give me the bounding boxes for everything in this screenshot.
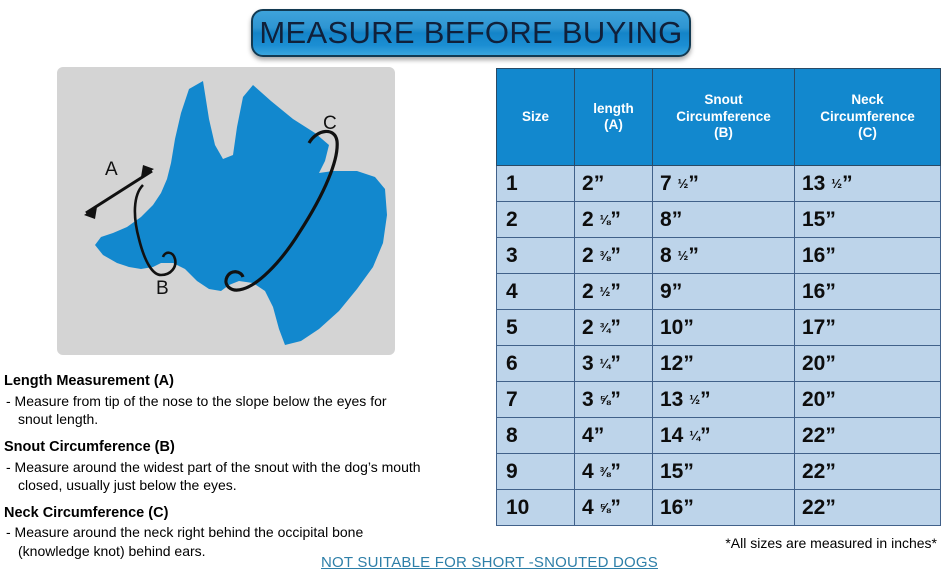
cell-snout-circumference: 7 ½” — [653, 166, 795, 202]
header-line-1: Size — [500, 109, 571, 125]
inches-note: *All sizes are measured in inches* — [725, 535, 937, 551]
header-line-3: (B) — [656, 125, 791, 141]
value-unit: ” — [610, 244, 621, 267]
cell-size: 7 — [497, 382, 575, 418]
cell-snout-circumference: 9” — [653, 274, 795, 310]
value-whole: 4 — [582, 460, 594, 483]
value-whole: 13 — [660, 388, 683, 411]
cell-size: 10 — [497, 490, 575, 526]
value-unit: ” — [825, 424, 836, 447]
value-unit: ” — [825, 352, 836, 375]
cell-neck-circumference: 13 ½” — [795, 166, 941, 202]
cell-length: 3 ¼” — [575, 346, 653, 382]
cell-neck-circumference: 16” — [795, 238, 941, 274]
value-unit: ” — [610, 460, 621, 483]
value-unit: ” — [610, 316, 621, 339]
instruction-body: - Measure around the widest part of the … — [4, 458, 490, 495]
value-unit: ” — [700, 388, 711, 411]
table-row: 104 ⅝”16”22” — [497, 490, 941, 526]
cell-length: 3 ⅝” — [575, 382, 653, 418]
value-whole: 3 — [582, 352, 594, 375]
value-whole: 20 — [802, 352, 825, 375]
table-row: 12”7 ½”13 ½” — [497, 166, 941, 202]
header-line-1: Neck — [798, 92, 937, 108]
table-row: 63 ¼”12”20” — [497, 346, 941, 382]
cell-size: 8 — [497, 418, 575, 454]
cell-length: 2 ¾” — [575, 310, 653, 346]
cell-neck-circumference: 20” — [795, 346, 941, 382]
value-whole: 2 — [582, 316, 594, 339]
table-row: 32 ⅜”8 ½”16” — [497, 238, 941, 274]
value-whole: 2 — [582, 280, 594, 303]
value-whole: 9 — [660, 280, 672, 303]
table-row: 22 ⅛”8”15” — [497, 202, 941, 238]
value-whole: 15 — [660, 460, 683, 483]
cell-snout-circumference: 16” — [653, 490, 795, 526]
cell-size: 6 — [497, 346, 575, 382]
cell-size: 1 — [497, 166, 575, 202]
value-unit: ” — [610, 388, 621, 411]
cell-size: 5 — [497, 310, 575, 346]
measurement-instructions: Length Measurement (A) - Measure from ti… — [4, 372, 490, 569]
value-unit: ” — [594, 172, 605, 195]
header-line-1: length — [578, 101, 649, 117]
value-whole: 17 — [802, 316, 825, 339]
value-unit: ” — [672, 280, 683, 303]
header-line-2: (A) — [578, 117, 649, 133]
column-header-length: length (A) — [575, 69, 653, 166]
value-fraction: ¼ — [689, 428, 700, 443]
value-fraction: ½ — [689, 392, 700, 407]
value-unit: ” — [610, 352, 621, 375]
value-fraction: ¼ — [600, 356, 611, 371]
table-row: 94 ⅜”15”22” — [497, 454, 941, 490]
value-fraction: ⅜ — [600, 248, 611, 263]
instruction-snout: Snout Circumference (B) - Measure around… — [4, 438, 490, 495]
value-fraction: ½ — [678, 176, 689, 191]
cell-neck-circumference: 22” — [795, 490, 941, 526]
column-header-neck-circumference: Neck Circumference (C) — [795, 69, 941, 166]
value-whole: 22 — [802, 460, 825, 483]
table-row: 84”14 ¼”22” — [497, 418, 941, 454]
measure-a-arrow — [84, 165, 154, 219]
value-unit: ” — [688, 244, 699, 267]
header-line-2: Circumference — [798, 109, 937, 125]
table-row: 42 ½”9”16” — [497, 274, 941, 310]
value-whole: 2 — [582, 172, 594, 195]
dog-head-silhouette — [95, 81, 387, 345]
table-row: 73 ⅝”13 ½”20” — [497, 382, 941, 418]
cell-neck-circumference: 22” — [795, 454, 941, 490]
instruction-heading: Snout Circumference (B) — [4, 438, 490, 457]
value-unit: ” — [825, 388, 836, 411]
cell-neck-circumference: 15” — [795, 202, 941, 238]
cell-snout-circumference: 12” — [653, 346, 795, 382]
instruction-body: - Measure from tip of the nose to the sl… — [4, 392, 490, 429]
value-whole: 16 — [660, 496, 683, 519]
cell-neck-circumference: 22” — [795, 418, 941, 454]
instruction-line-1: - Measure from tip of the nose to the sl… — [6, 393, 387, 409]
value-unit: ” — [825, 280, 836, 303]
cell-length: 2 ½” — [575, 274, 653, 310]
cell-length: 2 ⅜” — [575, 238, 653, 274]
label-a: A — [105, 159, 118, 180]
value-unit: ” — [825, 208, 836, 231]
value-unit: ” — [825, 244, 836, 267]
size-chart-table: Size length (A) Snout Circumference (B) … — [496, 68, 941, 526]
value-fraction: ¾ — [600, 320, 611, 335]
cell-size: 9 — [497, 454, 575, 490]
header-line-1: Snout — [656, 92, 791, 108]
value-whole: 2 — [582, 208, 594, 231]
page-title: MEASURE BEFORE BUYING — [259, 15, 682, 51]
cell-size: 4 — [497, 274, 575, 310]
cell-size: 3 — [497, 238, 575, 274]
value-whole: 4 — [582, 424, 594, 447]
dog-measurement-illustration: A B C — [57, 67, 395, 355]
value-whole: 8 — [660, 208, 672, 231]
value-whole: 14 — [660, 424, 683, 447]
instruction-line-1: - Measure around the neck right behind t… — [6, 524, 363, 540]
cell-neck-circumference: 17” — [795, 310, 941, 346]
cell-snout-circumference: 10” — [653, 310, 795, 346]
value-unit: ” — [700, 424, 711, 447]
header-line-2: Circumference — [656, 109, 791, 125]
cell-snout-circumference: 8” — [653, 202, 795, 238]
value-fraction: ½ — [600, 284, 611, 299]
cell-length: 2” — [575, 166, 653, 202]
column-header-size: Size — [497, 69, 575, 166]
value-fraction: ⅛ — [600, 212, 611, 227]
instruction-line-2: closed, usually just below the eyes. — [6, 476, 490, 494]
value-unit: ” — [594, 424, 605, 447]
cell-neck-circumference: 16” — [795, 274, 941, 310]
label-b: B — [156, 278, 169, 299]
cell-length: 2 ⅛” — [575, 202, 653, 238]
value-unit: ” — [610, 208, 621, 231]
value-whole: 2 — [582, 244, 594, 267]
value-fraction: ½ — [831, 176, 842, 191]
instruction-heading: Neck Circumference (C) — [4, 504, 490, 523]
value-whole: 15 — [802, 208, 825, 231]
cell-snout-circumference: 15” — [653, 454, 795, 490]
value-fraction: ⅝ — [600, 500, 611, 515]
value-unit: ” — [688, 172, 699, 195]
value-fraction: ⅝ — [600, 392, 611, 407]
table-row: 52 ¾”10”17” — [497, 310, 941, 346]
cell-length: 4 ⅝” — [575, 490, 653, 526]
value-whole: 10 — [660, 316, 683, 339]
value-unit: ” — [825, 496, 836, 519]
value-unit: ” — [683, 460, 694, 483]
value-whole: 22 — [802, 496, 825, 519]
instruction-line-1: - Measure around the widest part of the … — [6, 459, 421, 475]
instruction-neck: Neck Circumference (C) - Measure around … — [4, 504, 490, 561]
cell-snout-circumference: 14 ¼” — [653, 418, 795, 454]
title-banner: MEASURE BEFORE BUYING — [251, 9, 691, 57]
value-whole: 7 — [660, 172, 672, 195]
cell-neck-circumference: 20” — [795, 382, 941, 418]
instruction-line-2: snout length. — [6, 410, 490, 428]
value-whole: 16 — [802, 244, 825, 267]
cell-length: 4” — [575, 418, 653, 454]
value-unit: ” — [610, 280, 621, 303]
dog-head-diagram: A B C — [57, 67, 395, 355]
value-whole: 8 — [660, 244, 672, 267]
value-whole: 20 — [802, 388, 825, 411]
value-whole: 3 — [582, 388, 594, 411]
value-unit: ” — [672, 208, 683, 231]
label-c: C — [323, 113, 337, 134]
cell-snout-circumference: 13 ½” — [653, 382, 795, 418]
value-unit: ” — [610, 496, 621, 519]
not-suitable-link[interactable]: NOT SUITABLE FOR SHORT -SNOUTED DOGS — [321, 554, 658, 571]
value-whole: 13 — [802, 172, 825, 195]
value-unit: ” — [683, 352, 694, 375]
value-fraction: ½ — [678, 248, 689, 263]
cell-size: 2 — [497, 202, 575, 238]
table-body: 12”7 ½”13 ½”22 ⅛”8”15”32 ⅜”8 ½”16”42 ½”9… — [497, 166, 941, 526]
value-whole: 4 — [582, 496, 594, 519]
value-whole: 22 — [802, 424, 825, 447]
value-unit: ” — [683, 316, 694, 339]
value-unit: ” — [683, 496, 694, 519]
cell-snout-circumference: 8 ½” — [653, 238, 795, 274]
instruction-heading: Length Measurement (A) — [4, 372, 490, 391]
column-header-snout-circumference: Snout Circumference (B) — [653, 69, 795, 166]
value-fraction: ⅜ — [600, 464, 611, 479]
value-unit: ” — [825, 316, 836, 339]
value-whole: 16 — [802, 280, 825, 303]
cell-length: 4 ⅜” — [575, 454, 653, 490]
table-header-row: Size length (A) Snout Circumference (B) … — [497, 69, 941, 166]
value-unit: ” — [842, 172, 853, 195]
header-line-3: (C) — [798, 125, 937, 141]
value-unit: ” — [825, 460, 836, 483]
instruction-length: Length Measurement (A) - Measure from ti… — [4, 372, 490, 429]
value-whole: 12 — [660, 352, 683, 375]
